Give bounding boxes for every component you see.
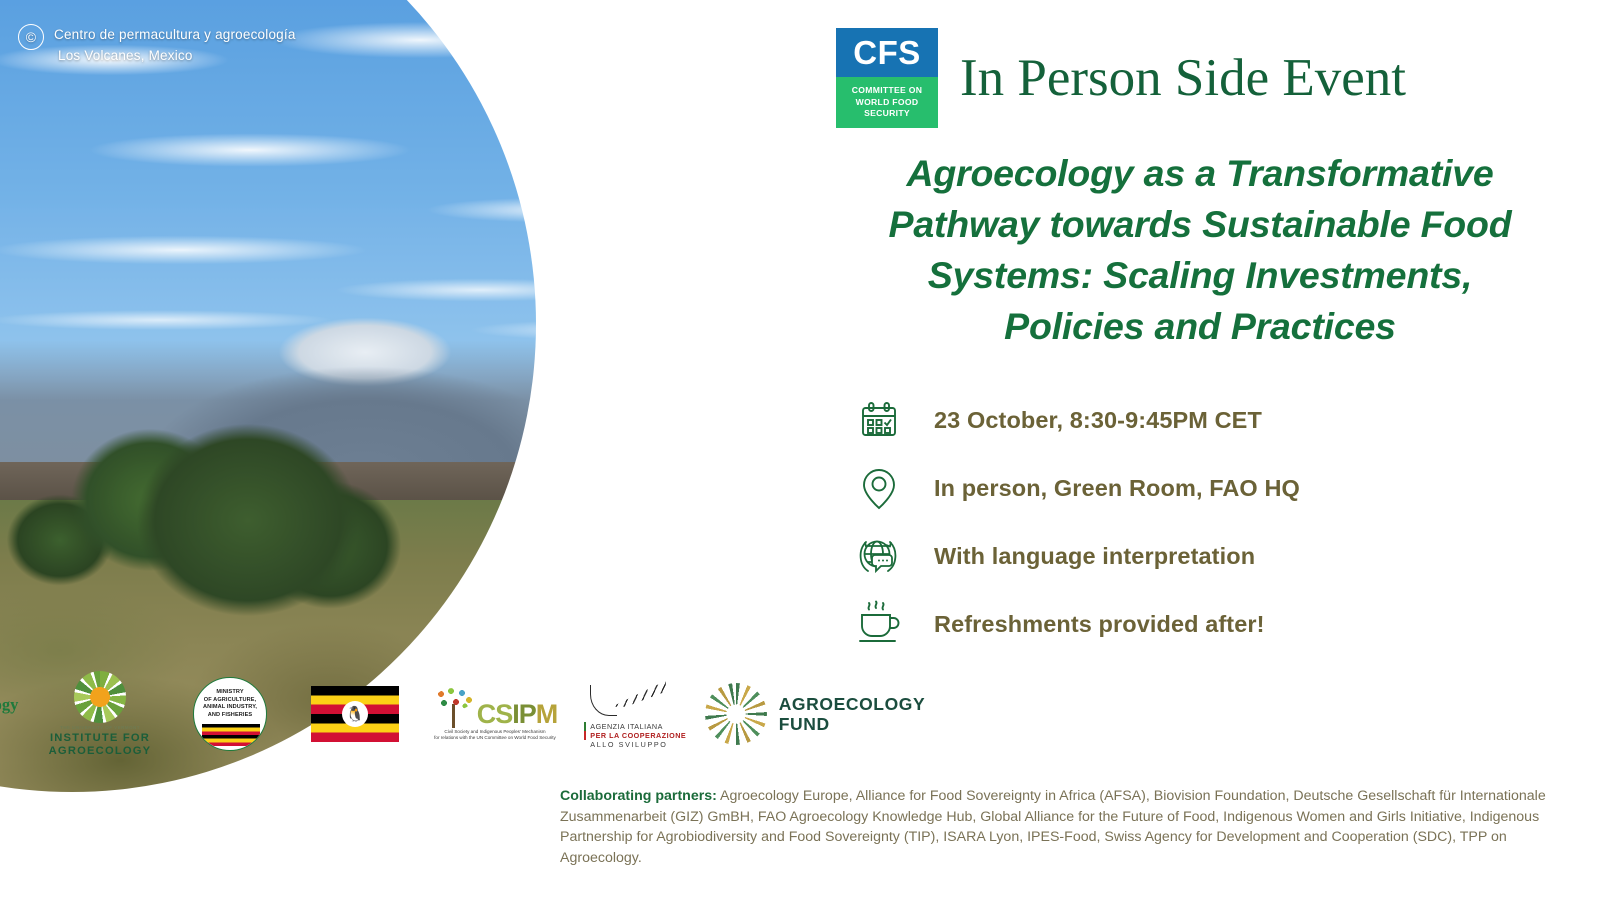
agroecology-coalition-logo: Agroecology Coalition	[0, 668, 30, 760]
csipm-logo: CSIPM Civil Society and Indigenous Peopl…	[420, 668, 570, 760]
seal-flag-band	[202, 724, 260, 746]
event-title-line2: Pathway towards Sustainable Food	[830, 199, 1570, 250]
photo-image	[0, 0, 800, 900]
photo-credit: © Centro de permacultura y agroecología …	[18, 24, 296, 66]
photo-credit-line2: Los Volcanes, Mexico	[54, 45, 296, 66]
globe-interpretation-icon	[850, 531, 908, 583]
csipm-sub1: Civil Society and Indigenous Peoples' Me…	[434, 729, 556, 735]
hero-photo	[0, 0, 800, 900]
aics-line3: ALLO SVILUPPO	[590, 740, 686, 749]
event-title-line1: Agroecology as a Transformative	[830, 148, 1570, 199]
detail-text-refreshments: Refreshments provided after!	[934, 611, 1265, 638]
agroecology-coalition-line1: Agroecology	[0, 696, 18, 714]
seal-line1: MINISTRY	[203, 689, 257, 697]
event-title: Agroecology as a Transformative Pathway …	[830, 148, 1570, 352]
location-pin-icon	[850, 463, 908, 515]
cfs-subtitle-line1: COMMITTEE ON	[852, 85, 922, 97]
uvm-university-label: THE UNIVERSITY OF VERMONT	[60, 725, 140, 730]
detail-text-interpretation: With language interpretation	[934, 543, 1255, 570]
uvm-institute-for-agroecology-logo: THE UNIVERSITY OF VERMONT INSTITUTE FOR …	[30, 668, 170, 760]
aics-line2: PER LA COOPERAZIONE	[590, 731, 686, 740]
detail-row-location: In person, Green Room, FAO HQ	[850, 460, 1300, 517]
uvm-sunburst-mark	[74, 671, 126, 723]
coffee-cup-icon	[850, 599, 908, 651]
detail-row-interpretation: With language interpretation	[850, 528, 1300, 585]
event-poster: © Centro de permacultura y agroecología …	[0, 0, 1600, 900]
poster-header: CFS COMMITTEE ON WORLD FOOD SECURITY In …	[836, 28, 1406, 128]
farmer-figure	[498, 560, 532, 618]
partner-logo-strip: Agroecology Coalition THE UNIVERSITY OF …	[0, 668, 800, 760]
agroecology-fund-logo: AGROECOLOGY FUND	[700, 668, 930, 760]
cfs-subtitle: COMMITTEE ON WORLD FOOD SECURITY	[836, 77, 938, 128]
photo-credit-line1: Centro de permacultura y agroecología	[54, 24, 296, 45]
seal-line4: AND FISHERIES	[203, 712, 257, 720]
detail-text-date: 23 October, 8:30-9:45PM CET	[934, 407, 1262, 434]
event-details: 23 October, 8:30-9:45PM CET In person, G…	[850, 392, 1300, 653]
uvm-line2: AGROECOLOGY	[49, 745, 152, 758]
dove-icon	[584, 679, 668, 719]
agroecology-coalition-line2: Coalition	[0, 714, 18, 732]
cfs-acronym: CFS	[836, 28, 938, 77]
grey-crowned-crane-emblem: 🐧	[342, 701, 368, 727]
copyright-icon: ©	[18, 24, 44, 50]
collaborating-partners: Collaborating partners: Agroecology Euro…	[560, 786, 1550, 868]
uvm-line1: INSTITUTE FOR	[49, 732, 152, 745]
seal-line2: OF AGRICULTURE,	[203, 697, 257, 705]
seal-line3: ANIMAL INDUSTRY,	[203, 704, 257, 712]
utility-pole	[718, 420, 722, 530]
agroecology-fund-burst-mark	[705, 683, 767, 745]
cfs-logo: CFS COMMITTEE ON WORLD FOOD SECURITY	[836, 28, 938, 128]
csipm-tree-icon	[433, 688, 475, 728]
aics-line1: AGENZIA ITALIANA	[590, 722, 686, 731]
agenzia-italiana-cooperazione-logo: AGENZIA ITALIANA PER LA COOPERAZIONE ALL…	[570, 668, 700, 760]
csipm-word1: CS	[477, 699, 513, 729]
uganda-ministry-of-agriculture-seal: MINISTRY OF AGRICULTURE, ANIMAL INDUSTRY…	[170, 668, 290, 760]
content-column: CFS COMMITTEE ON WORLD FOOD SECURITY In …	[790, 0, 1600, 900]
agroecology-fund-line1: AGROECOLOGY	[779, 694, 926, 714]
cfs-subtitle-line3: SECURITY	[864, 108, 910, 120]
csipm-word3: M	[536, 699, 558, 729]
cfs-subtitle-line2: WORLD FOOD	[856, 97, 919, 109]
detail-row-date: 23 October, 8:30-9:45PM CET	[850, 392, 1300, 449]
calendar-icon	[850, 395, 908, 447]
collaborating-partners-label: Collaborating partners:	[560, 788, 717, 804]
agroecology-fund-line2: FUND	[779, 714, 926, 734]
uganda-flag: 🐧	[290, 668, 420, 760]
detail-text-location: In person, Green Room, FAO HQ	[934, 475, 1300, 502]
csipm-word2: IP	[512, 699, 536, 729]
csipm-sub2: for relations with the UN Committee on W…	[434, 735, 556, 741]
event-title-line3: Systems: Scaling Investments,	[830, 250, 1570, 301]
italian-flag-bar	[584, 722, 587, 750]
event-type-heading: In Person Side Event	[960, 52, 1406, 105]
event-title-line4: Policies and Practices	[830, 301, 1570, 352]
detail-row-refreshments: Refreshments provided after!	[850, 596, 1300, 653]
